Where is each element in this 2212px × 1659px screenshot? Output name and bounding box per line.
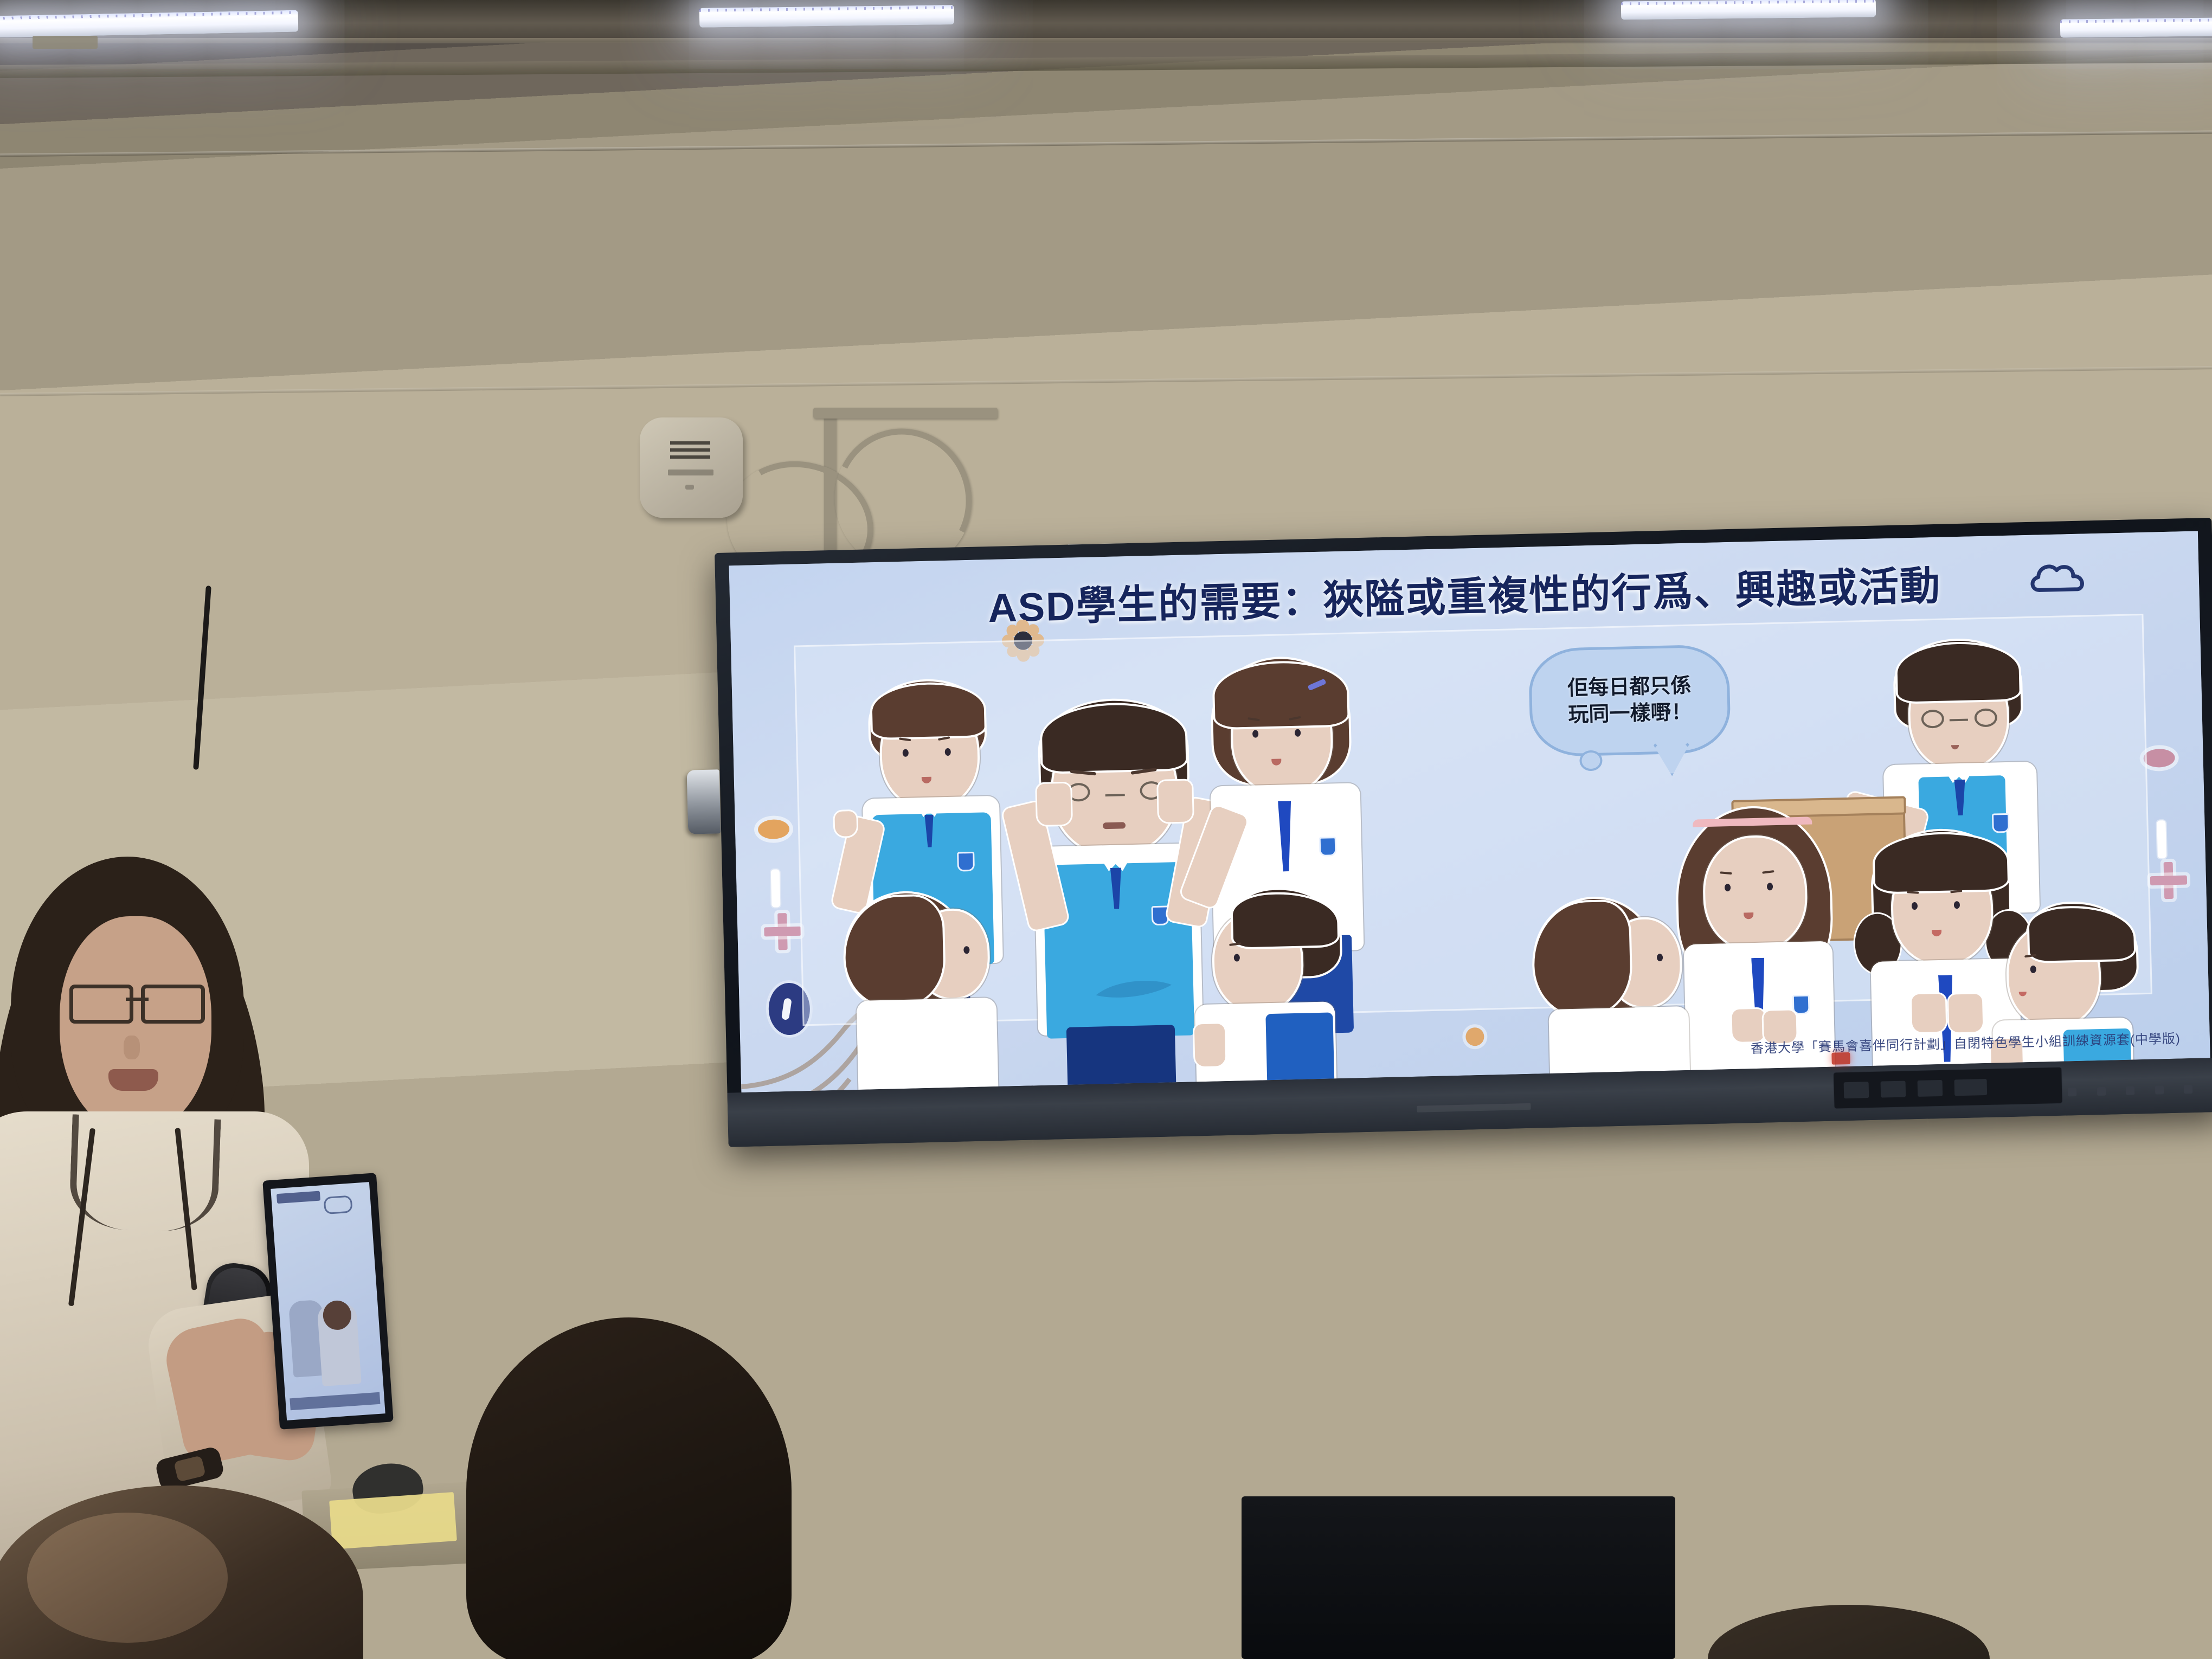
- display-button-row[interactable]: [2068, 1082, 2193, 1099]
- illustration-right: 佢每日都只係 玩同一樣嘢！: [1512, 632, 2126, 982]
- presenter-nose: [124, 1036, 140, 1059]
- ceiling-seam: [0, 38, 2212, 43]
- yellow-notepad: [329, 1492, 457, 1549]
- screenshot-root: ASD學生的需要：狹隘或重複性的行爲、興趣或活動: [0, 0, 2212, 1659]
- device-label: [668, 470, 713, 475]
- interactive-display[interactable]: ASD學生的需要：狹隘或重複性的行爲、興趣或活動: [715, 518, 2212, 1147]
- wall-seam-upper: [0, 131, 2212, 157]
- ceiling-light-tube: [699, 5, 954, 28]
- laptop-slide-title: [276, 1191, 320, 1204]
- presenter-face: [60, 916, 211, 1133]
- display-menu-button[interactable]: [2097, 1087, 2105, 1096]
- presentation-slide: ASD學生的需要：狹隘或重複性的行爲、興趣或活動: [729, 531, 2210, 1093]
- display-port-panel[interactable]: [1833, 1067, 2062, 1109]
- light-holder: [33, 36, 98, 49]
- plus-icon-right: [2147, 859, 2190, 902]
- ceiling-light-tube: [1621, 0, 1876, 20]
- wall-conduit-horizontal: [813, 408, 998, 419]
- speech-bubble: 佢每日都只係 玩同一樣嘢！: [1528, 644, 1732, 757]
- speech-line-2: 玩同一樣嘢！: [1568, 699, 1692, 729]
- display-side-connector: [687, 769, 721, 834]
- oval-decoration-right: [2143, 749, 2175, 768]
- display-brand: [1417, 1103, 1531, 1113]
- device-led: [685, 485, 694, 490]
- student-figure: [834, 891, 1002, 1092]
- laptop-slide-footer-bar: [290, 1392, 380, 1411]
- bar-decoration-left: [770, 868, 782, 908]
- student-figure: [1529, 897, 1697, 1092]
- presenter-glasses: [69, 985, 205, 1018]
- display-volume-down-button[interactable]: [2155, 1085, 2163, 1094]
- laptop-screen[interactable]: [271, 1182, 385, 1420]
- plus-icon-left: [761, 910, 805, 953]
- wifi-access-point-icon: [640, 417, 743, 518]
- display-screen[interactable]: ASD學生的需要：狹隘或重複性的行爲、興趣或活動: [729, 531, 2210, 1093]
- presenter-mouth: [108, 1069, 158, 1091]
- audience-scalp: [27, 1513, 228, 1643]
- ceiling-light-tube: [2060, 17, 2212, 37]
- bar-decoration-right: [2156, 819, 2168, 859]
- speech-bubble-tail: [1579, 750, 1603, 771]
- device-vents: [670, 441, 710, 460]
- ceiling-beam: [0, 50, 2212, 78]
- display-input-button[interactable]: [2184, 1085, 2192, 1094]
- display-power-button[interactable]: [2068, 1088, 2076, 1096]
- laptop-slide-figure: [317, 1302, 361, 1386]
- presenter-laptop[interactable]: [262, 1173, 394, 1430]
- student-figure: [1176, 889, 1355, 1093]
- cloud-icon: [2027, 557, 2093, 596]
- display-stand: [1242, 1496, 1675, 1659]
- dot-decoration-bottom: [1465, 1027, 1484, 1046]
- wall-seam-mid: [0, 366, 2212, 396]
- illustration-left: [824, 648, 1427, 998]
- audience-head-front-center: [466, 1317, 792, 1659]
- laptop-slide-cloud-icon: [324, 1195, 353, 1214]
- oval-decoration-left: [758, 819, 790, 839]
- display-volume-up-button[interactable]: [2126, 1086, 2134, 1095]
- speech-line-1: 佢每日都只係: [1567, 673, 1692, 702]
- ceiling: [0, 0, 2212, 42]
- display-power-led: [1831, 1052, 1850, 1065]
